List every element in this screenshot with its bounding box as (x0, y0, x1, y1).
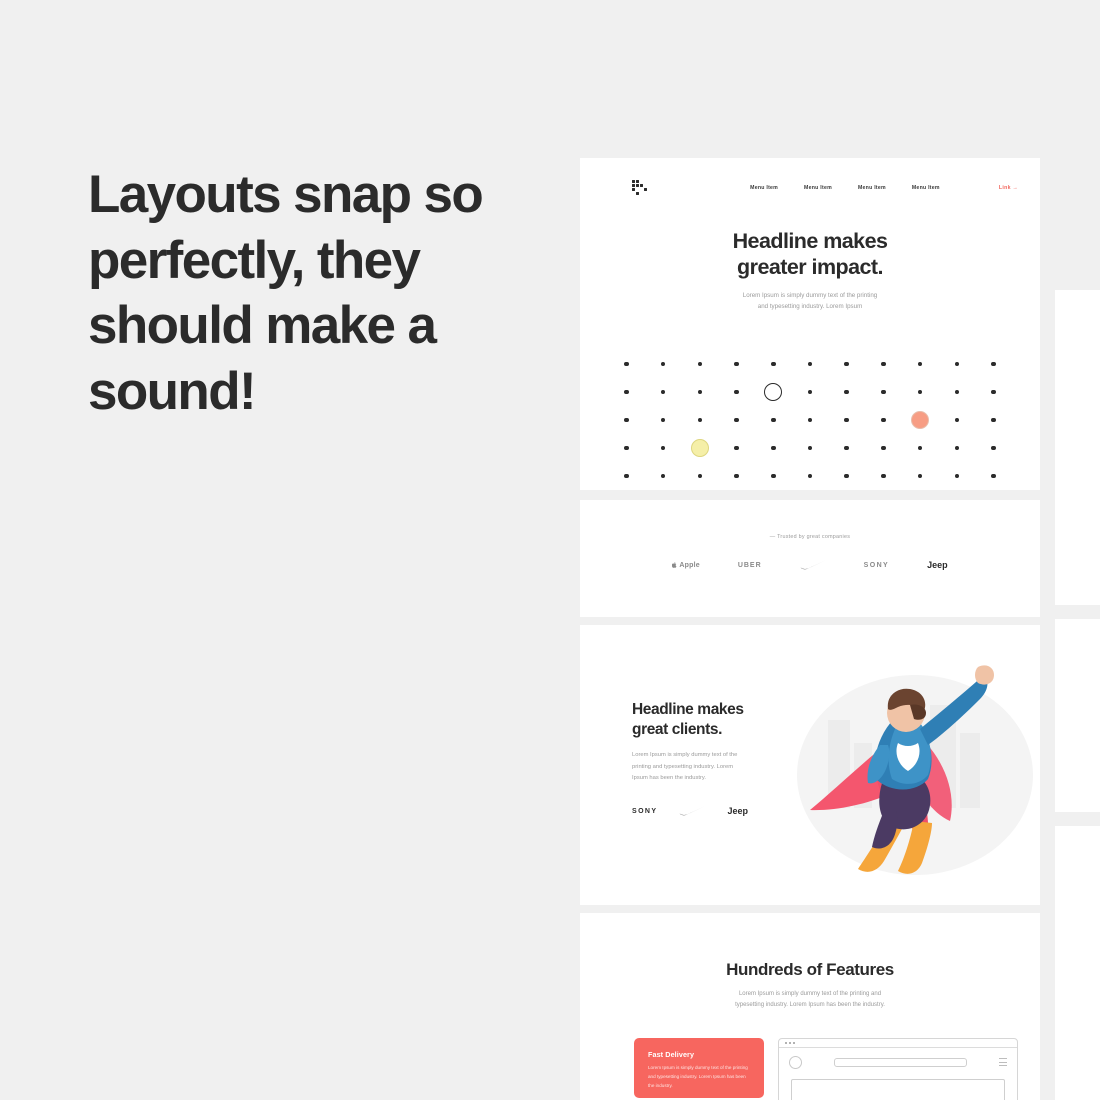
browser-content-frame (791, 1079, 1005, 1100)
traffic-light-green-icon (793, 1042, 795, 1044)
dot (734, 446, 739, 451)
dot (771, 446, 776, 451)
dot (918, 390, 923, 395)
nav-item-4[interactable]: Menu Item (912, 185, 940, 191)
features-header: Hundreds of Features Lorem Ipsum is simp… (580, 913, 1040, 1012)
dot (734, 474, 739, 479)
dot (918, 446, 923, 451)
dot (955, 418, 960, 423)
side-card-3[interactable] (1055, 826, 1100, 1100)
clients-brand-row: SONY Jeep (632, 806, 780, 816)
feature-card-title: Fast Delivery (648, 1050, 750, 1059)
dot-highlight-coral (911, 411, 929, 429)
clients-subtitle: Lorem Ipsum is simply dummy text of the … (632, 750, 780, 784)
dot (661, 418, 666, 423)
dot (661, 390, 666, 395)
apple-logo-label: Apple (679, 562, 699, 569)
dot (844, 362, 849, 367)
dot (698, 362, 703, 367)
hamburger-menu-icon[interactable] (999, 1058, 1007, 1066)
dot (624, 390, 629, 395)
traffic-light-yellow-icon (789, 1042, 791, 1044)
dot (991, 390, 996, 395)
nav-item-3[interactable]: Menu Item (858, 185, 886, 191)
dot-highlight-hollow (764, 383, 782, 401)
dot (808, 390, 813, 395)
hero-copy: Headline makes greater impact. Lorem Ips… (580, 228, 1040, 313)
dot (991, 362, 996, 367)
dot (955, 474, 960, 479)
features-body: Fast Delivery Lorem Ipsum is simply dumm… (580, 1012, 1040, 1100)
dot (881, 446, 886, 451)
apple-logo-icon: Apple (672, 562, 699, 569)
browser-mockup (778, 1038, 1018, 1100)
superhero-illustration (780, 625, 1040, 905)
dot (881, 474, 886, 479)
pixel-grid-logo-icon[interactable] (632, 180, 647, 195)
dot (698, 474, 703, 479)
dot (661, 362, 666, 367)
jeep-logo: Jeep (927, 560, 948, 570)
dot (955, 390, 960, 395)
hero-subtitle: Lorem Ipsum is simply dummy text of the … (580, 290, 1040, 313)
clients-subtitle-line3: Ipsum has been the industry. (632, 773, 780, 784)
dot (808, 362, 813, 367)
dot (918, 474, 923, 479)
feature-body-line1: Lorem Ipsum is simply dummy text of the (648, 1065, 731, 1070)
sony-logo: SONY (632, 808, 657, 815)
nav-item-1[interactable]: Menu Item (750, 185, 778, 191)
hero-title-line1: Headline makes (580, 228, 1040, 254)
dot-highlight-yellow (691, 439, 709, 457)
jeep-logo: Jeep (727, 806, 748, 816)
dot (918, 362, 923, 367)
dot (734, 418, 739, 423)
trusted-logos-card: — Trusted by great companies Apple UBER … (580, 500, 1040, 617)
dot (844, 446, 849, 451)
dot (698, 390, 703, 395)
dot (771, 418, 776, 423)
dot (771, 474, 776, 479)
clients-title-line2: great clients. (632, 720, 780, 740)
dot (881, 418, 886, 423)
sony-logo: SONY (864, 562, 889, 569)
dot (955, 446, 960, 451)
features-title: Hundreds of Features (580, 960, 1040, 980)
trusted-eyebrow: — Trusted by great companies (580, 534, 1040, 540)
dot (844, 390, 849, 395)
dot (991, 446, 996, 451)
circle-logo-icon (789, 1056, 802, 1069)
brand-logo-row: Apple UBER SONY Jeep (580, 560, 1040, 570)
search-input[interactable] (834, 1058, 967, 1067)
dot (844, 474, 849, 479)
navbar: Menu Item Menu Item Menu Item Menu Item … (580, 158, 1040, 202)
dot (881, 390, 886, 395)
clients-subtitle-line2: printing and typesetting industry. Lorem (632, 762, 780, 773)
features-subtitle: Lorem Ipsum is simply dummy text of the … (580, 989, 1040, 1012)
clients-title-line1: Headline makes (632, 700, 780, 720)
dot (661, 446, 666, 451)
dot (991, 418, 996, 423)
dot (698, 418, 703, 423)
dot (624, 474, 629, 479)
dot (844, 418, 849, 423)
dot (624, 418, 629, 423)
features-subtitle-line1: Lorem Ipsum is simply dummy text of the … (580, 989, 1040, 1000)
dot (661, 474, 666, 479)
browser-titlebar (779, 1039, 1017, 1048)
dot (881, 362, 886, 367)
features-subtitle-line2: typesetting industry. Lorem Ipsum has be… (580, 1000, 1040, 1011)
feature-card-fast-delivery[interactable]: Fast Delivery Lorem Ipsum is simply dumm… (634, 1038, 764, 1098)
dot (771, 362, 776, 367)
features-card: Hundreds of Features Lorem Ipsum is simp… (580, 913, 1040, 1100)
dot (991, 474, 996, 479)
dot (808, 446, 813, 451)
clients-title: Headline makes great clients. (632, 700, 780, 739)
nike-logo-icon (800, 560, 826, 570)
page-root: Layouts snap so perfectly, they should m… (0, 0, 1100, 1100)
nike-logo-icon (679, 806, 705, 816)
hero-title: Headline makes greater impact. (580, 228, 1040, 281)
dot-grid (608, 350, 1012, 490)
hero-title-line2: greater impact. (580, 254, 1040, 280)
page-title: Layouts snap so perfectly, they should m… (88, 162, 558, 425)
dot (955, 362, 960, 367)
hero-card: Menu Item Menu Item Menu Item Menu Item … (580, 158, 1040, 490)
dot (624, 362, 629, 367)
hero-subtitle-line2: and typesetting industry. Lorem Ipsum (580, 301, 1040, 312)
browser-header (779, 1048, 1017, 1077)
dot (734, 390, 739, 395)
clients-subtitle-line1: Lorem Ipsum is simply dummy text of the (632, 750, 780, 761)
uber-logo: UBER (738, 562, 762, 569)
dot (808, 418, 813, 423)
dot (624, 446, 629, 451)
feature-card-column: Fast Delivery Lorem Ipsum is simply dumm… (634, 1038, 764, 1100)
clients-copy: Headline makes great clients. Lorem Ipsu… (580, 625, 780, 905)
side-card-2[interactable] (1055, 619, 1100, 812)
dot (808, 474, 813, 479)
dot (734, 362, 739, 367)
nav-cta-link[interactable]: Link → (999, 185, 1018, 191)
traffic-light-red-icon (785, 1042, 787, 1044)
nav-links: Menu Item Menu Item Menu Item Menu Item (706, 185, 940, 191)
clients-card: Headline makes great clients. Lorem Ipsu… (580, 625, 1040, 905)
feature-card-body: Lorem Ipsum is simply dummy text of the … (648, 1064, 750, 1091)
side-card-1[interactable] (1055, 290, 1100, 605)
nav-item-2[interactable]: Menu Item (804, 185, 832, 191)
hero-subtitle-line1: Lorem Ipsum is simply dummy text of the … (580, 290, 1040, 301)
